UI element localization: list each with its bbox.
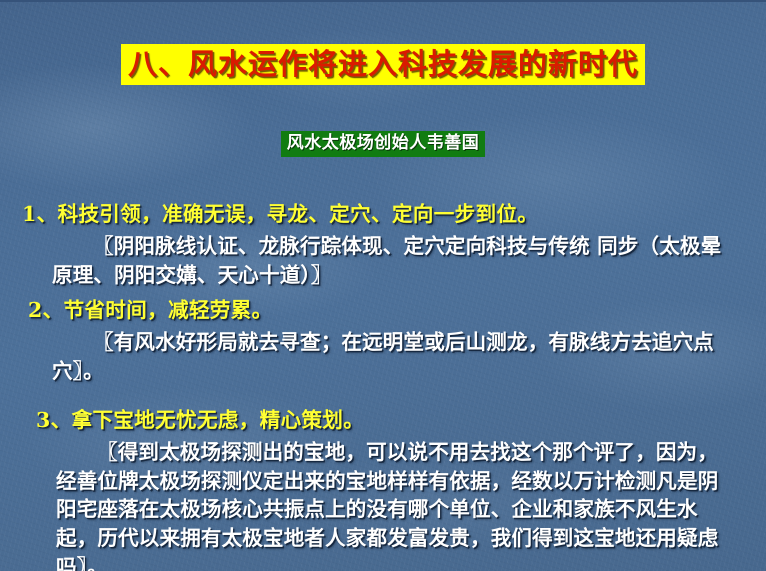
slide-title: 八、风水运作将进入科技发展的新时代 xyxy=(121,44,645,85)
section-3-body: 〖得到太极场探测出的宝地，可以说不用去找这个那个评了，因为，经善位牌太极场探测仪… xyxy=(0,435,766,571)
section-1-body: 〖阴阳脉线认证、龙脉行踪体现、定穴定向科技与传统 同步（太极晕原理、阴阳交媾、天… xyxy=(0,229,766,289)
content-section-3: 3、拿下宝地无忧无虑，精心策划。 〖得到太极场探测出的宝地，可以说不用去找这个那… xyxy=(0,407,766,571)
presentation-slide: 八、风水运作将进入科技发展的新时代 风水太极场创始人韦善国 1、科技引领，准确无… xyxy=(0,0,766,571)
section-3-heading: 3、拿下宝地无忧无虑，精心策划。 xyxy=(0,407,766,435)
section-1-heading: 1、科技引领，准确无误，寻龙、定穴、定向一步到位。 xyxy=(0,201,766,229)
section-2-body: 〖有风水好形局就去寻查；在远明堂或后山测龙，有脉线方去追穴点穴〗。 xyxy=(0,325,766,385)
content-section-2: 2、节省时间，减轻劳累。 〖有风水好形局就去寻查；在远明堂或后山测龙，有脉线方去… xyxy=(0,297,766,385)
slide-subtitle-row: 风水太极场创始人韦善国 xyxy=(0,131,766,157)
content-section-1: 1、科技引领，准确无误，寻龙、定穴、定向一步到位。 〖阴阳脉线认证、龙脉行踪体现… xyxy=(0,201,766,289)
section-2-heading: 2、节省时间，减轻劳累。 xyxy=(0,297,766,325)
slide-title-row: 八、风水运作将进入科技发展的新时代 xyxy=(0,44,766,85)
slide-subtitle: 风水太极场创始人韦善国 xyxy=(281,131,486,157)
